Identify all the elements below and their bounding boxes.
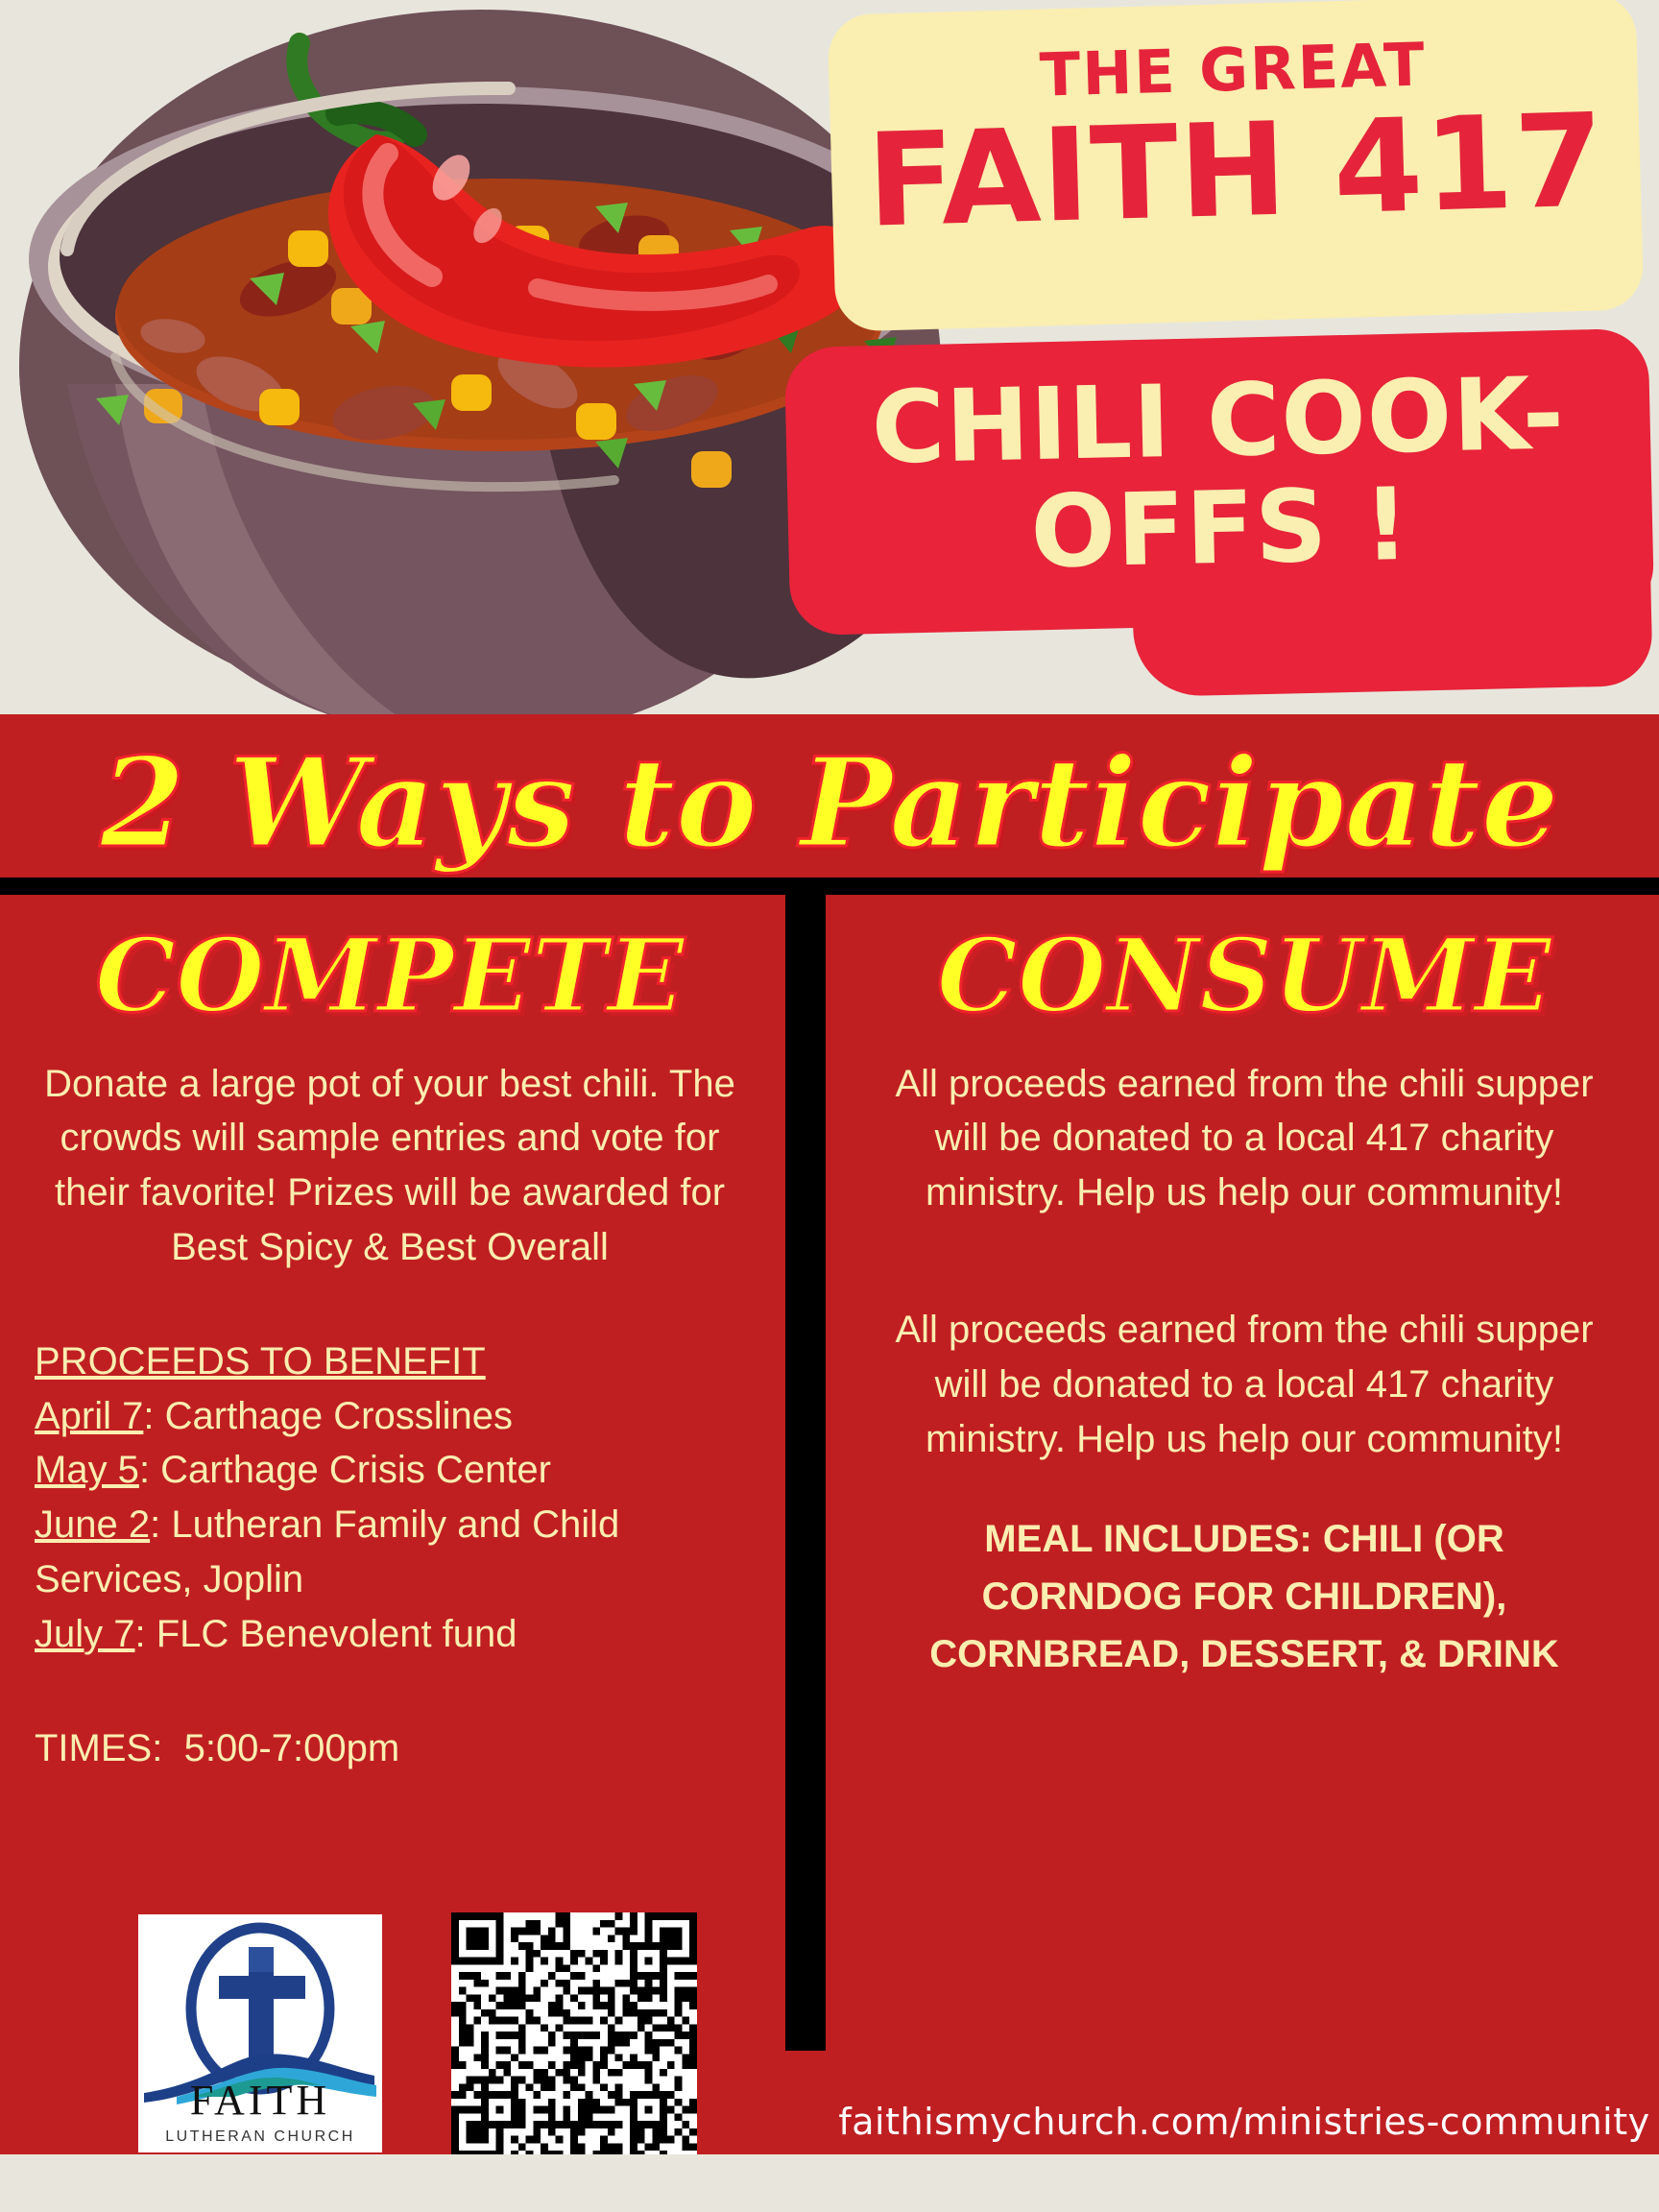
compete-column: COMPETE Donate a large pot of your best … <box>0 920 780 1775</box>
cook-card-text: CHILI COOK- OFFS ! <box>795 358 1645 591</box>
title-card: THE GREAT FAITH 417 <box>828 0 1645 332</box>
ways-to-participate-text: 2 Ways to Participate <box>100 732 1559 877</box>
benefit-sep: : <box>135 1613 156 1655</box>
logo-subwordmark: LUTHERAN CHURCH <box>138 2129 382 2145</box>
faith-lutheran-church-logo: FAITH LUTHERAN CHURCH <box>138 1914 382 2152</box>
website-url[interactable]: faithismychurch.com/ministries-community <box>829 2101 1659 2143</box>
consume-heading: CONSUME <box>829 920 1659 1032</box>
times-line: TIMES: 5:00-7:00pm <box>0 1721 780 1776</box>
benefit-item: June 2: Lutheran Family and Child Servic… <box>35 1498 780 1607</box>
cook-line-1: CHILI COOK- <box>795 358 1642 484</box>
benefit-sep: : <box>143 1395 164 1437</box>
benefit-name: Carthage Crosslines <box>165 1395 513 1437</box>
proceeds-heading: PROCEEDS TO BENEFIT <box>35 1340 486 1382</box>
benefit-date: May 5 <box>35 1449 139 1491</box>
vertical-divider <box>785 878 826 2051</box>
ways-to-participate-banner: 2 Ways to Participate <box>0 732 1659 893</box>
benefit-name: Carthage Crisis Center <box>160 1449 551 1491</box>
consume-paragraph-1: All proceeds earned from the chili suppe… <box>829 1057 1659 1220</box>
bottom-strip <box>0 2154 1659 2212</box>
benefit-sep: : <box>139 1449 160 1491</box>
benefit-name: FLC Benevolent fund <box>156 1613 517 1655</box>
compete-intro-text: Donate a large pot of your best chili. T… <box>0 1057 780 1275</box>
poster-root: THE GREAT FAITH 417 CHILI COOK- OFFS ! 2… <box>0 0 1659 2212</box>
meal-includes-text: MEAL INCLUDES: CHILI (OR CORNDOG FOR CHI… <box>829 1510 1659 1683</box>
benefit-date: June 2 <box>35 1503 150 1546</box>
times-value: 5:00-7:00pm <box>184 1727 400 1769</box>
title-faith-417: FAITH 417 <box>830 94 1642 248</box>
logo-wordmark: FAITH <box>138 2080 382 2122</box>
benefit-sep: : <box>150 1503 171 1546</box>
benefit-item: May 5: Carthage Crisis Center <box>35 1443 780 1498</box>
horizontal-divider <box>0 878 1659 895</box>
compete-heading: COMPETE <box>0 920 780 1032</box>
qr-code[interactable] <box>451 1912 697 2158</box>
benefit-item: April 7: Carthage Crosslines <box>35 1389 780 1444</box>
benefit-item: July 7: FLC Benevolent fund <box>35 1607 780 1662</box>
benefit-date: April 7 <box>35 1395 143 1437</box>
times-label: TIMES: <box>35 1727 162 1769</box>
consume-column: CONSUME All proceeds earned from the chi… <box>829 920 1659 1683</box>
proceeds-to-benefit-block: PROCEEDS TO BENEFIT April 7: Carthage Cr… <box>0 1334 780 1662</box>
benefit-date: July 7 <box>35 1613 135 1655</box>
consume-paragraph-2: All proceeds earned from the chili suppe… <box>829 1303 1659 1466</box>
